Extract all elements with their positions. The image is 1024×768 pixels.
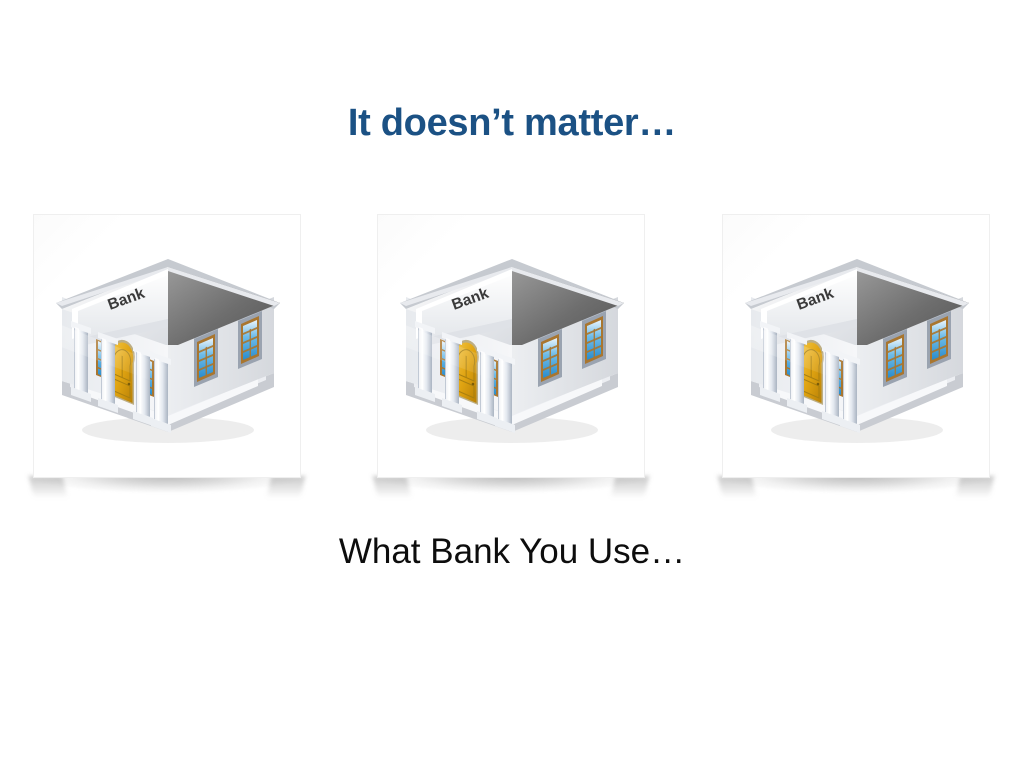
card-shadow — [375, 476, 647, 502]
card-shadow-center — [377, 476, 645, 492]
card-shadow-right-wing — [611, 476, 650, 498]
card-shadow — [31, 476, 303, 502]
card-shadow-center — [33, 476, 301, 492]
card-shadow-left-wing — [718, 476, 757, 498]
bank-building-icon: Bank — [392, 227, 630, 465]
slide-title: It doesn’t matter… — [0, 99, 1024, 147]
bank-building-icon: Bank — [737, 227, 975, 465]
slide-subtitle: What Bank You Use… — [0, 529, 1024, 575]
bank-photo-card[interactable]: Bank — [377, 214, 645, 478]
bank-photo-card[interactable]: Bank — [33, 214, 301, 478]
slide-canvas: It doesn’t matter… — [0, 0, 1024, 768]
card-shadow-left-wing — [29, 476, 68, 498]
bank-photo-card[interactable]: Bank — [722, 214, 990, 478]
card-shadow-right-wing — [267, 476, 306, 498]
bank-image-gallery: Bank — [0, 214, 1024, 504]
card-shadow-center — [722, 476, 990, 492]
card-shadow-right-wing — [956, 476, 995, 498]
bank-building-icon: Bank — [48, 227, 286, 465]
card-shadow-left-wing — [373, 476, 412, 498]
card-shadow — [720, 476, 992, 502]
